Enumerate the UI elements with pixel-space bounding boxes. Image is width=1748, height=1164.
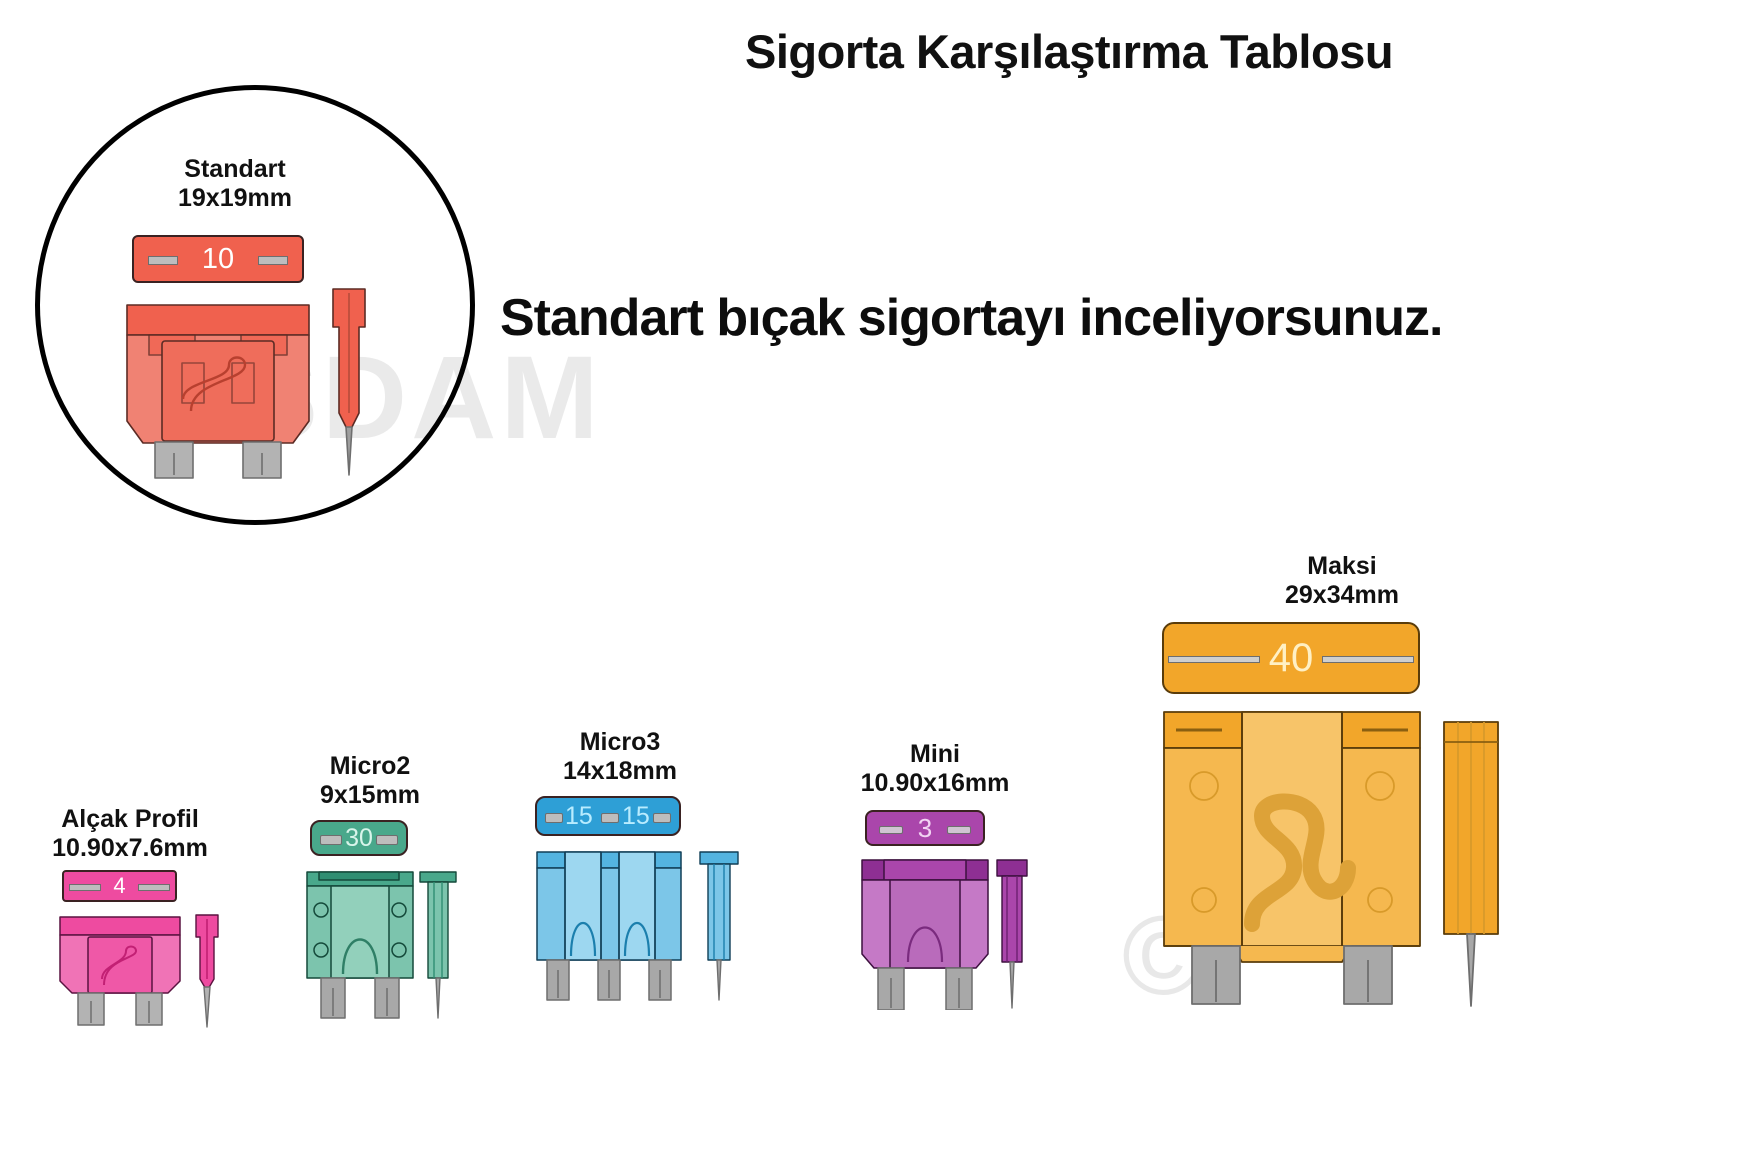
fuse-label-micro3: Micro3 14x18mm [530, 728, 710, 786]
fuse-sideview-standart [321, 287, 377, 477]
fuse-comparison-chart: Sigorta Karşılaştırma Tablosu Standart b… [0, 0, 1748, 1164]
fuse-name-standart: Standart [184, 155, 285, 183]
fuse-topview-alcak-profil: 4 [62, 870, 177, 902]
fuse-group-maksi[interactable]: Maksi 29x34mm 40 [1162, 552, 1420, 624]
fuse-size-micro2: 9x15mm [290, 781, 450, 810]
blade-slot-right [947, 826, 971, 834]
fuse-frontview-standart [125, 303, 311, 479]
fuse-label-micro2: Micro2 9x15mm [290, 752, 450, 810]
fuse-amp-micro3-a: 15 [565, 804, 593, 829]
fuse-name-maksi: Maksi [1307, 552, 1376, 580]
fuse-topview-micro3: 15 15 [535, 796, 681, 836]
blade-slot-left [879, 826, 903, 834]
blade-slot-right [653, 813, 671, 823]
blade-slot-center [601, 813, 619, 823]
blade-slot-right [258, 256, 288, 265]
blade-slot-left [69, 884, 101, 891]
fuse-sideview-alcak-profil [190, 913, 224, 1029]
fuse-label-mini: Mini 10.90x16mm [845, 740, 1025, 798]
fuse-frontview-maksi [1162, 710, 1422, 1006]
fuse-topview-micro2: 30 [310, 820, 408, 856]
fuse-amp-mini: 3 [918, 815, 932, 841]
fuse-label-standart: Standart 19x19mm [125, 155, 345, 213]
fuse-size-maksi: 29x34mm [1162, 581, 1522, 610]
fuse-amp-micro2: 30 [345, 826, 373, 851]
page-title: Sigorta Karşılaştırma Tablosu [745, 24, 1393, 79]
fuse-group-standart[interactable]: Standart 19x19mm 10 [125, 155, 297, 203]
fuse-frontview-mini [860, 858, 990, 1010]
fuse-sideview-maksi [1440, 720, 1502, 1008]
fuse-frontview-micro2 [305, 870, 415, 1020]
fuse-group-mini[interactable]: Mini 10.90x16mm 3 [845, 740, 965, 776]
fuse-name-micro3: Micro3 [580, 728, 661, 756]
fuse-topview-standart: 10 [132, 235, 304, 283]
fuse-sideview-micro2 [418, 870, 458, 1020]
blade-slot-right [1322, 656, 1414, 663]
fuse-frontview-micro3 [535, 850, 683, 1002]
blade-slot-left [1168, 656, 1260, 663]
fuse-amp-standart: 10 [202, 245, 234, 274]
fuse-size-mini: 10.90x16mm [845, 769, 1025, 798]
fuse-name-alcak-profil: Alçak Profil [61, 805, 199, 833]
fuse-group-micro3[interactable]: Micro3 14x18mm 15 15 [530, 728, 676, 768]
fuse-amp-maksi: 40 [1269, 638, 1314, 678]
blade-slot-left [320, 835, 342, 845]
fuse-group-alcak-profil[interactable]: Alçak Profil 10.90x7.6mm 4 [40, 805, 155, 837]
blade-slot-left [148, 256, 178, 265]
blade-slot-right [138, 884, 170, 891]
blade-slot-right [376, 835, 398, 845]
fuse-size-standart: 19x19mm [125, 184, 345, 213]
blade-slot-left [545, 813, 563, 823]
fuse-size-micro3: 14x18mm [530, 757, 710, 786]
fuse-name-micro2: Micro2 [330, 752, 411, 780]
fuse-label-maksi: Maksi 29x34mm [1162, 552, 1522, 610]
fuse-sideview-micro3 [698, 850, 740, 1002]
fuse-sideview-mini [993, 858, 1031, 1010]
fuse-topview-mini: 3 [865, 810, 985, 846]
fuse-frontview-alcak-profil [58, 915, 182, 1027]
fuse-group-micro2[interactable]: Micro2 9x15mm 30 [290, 752, 388, 788]
fuse-topview-maksi: 40 [1162, 622, 1420, 694]
fuse-amp-alcak-profil: 4 [113, 875, 125, 897]
fuse-amp-micro3-b: 15 [622, 804, 650, 829]
fuse-size-alcak-profil: 10.90x7.6mm [40, 834, 220, 863]
fuse-label-alcak-profil: Alçak Profil 10.90x7.6mm [40, 805, 220, 863]
page-subtitle: Standart bıçak sigortayı inceliyorsunuz. [500, 288, 1443, 348]
fuse-name-mini: Mini [910, 740, 960, 768]
